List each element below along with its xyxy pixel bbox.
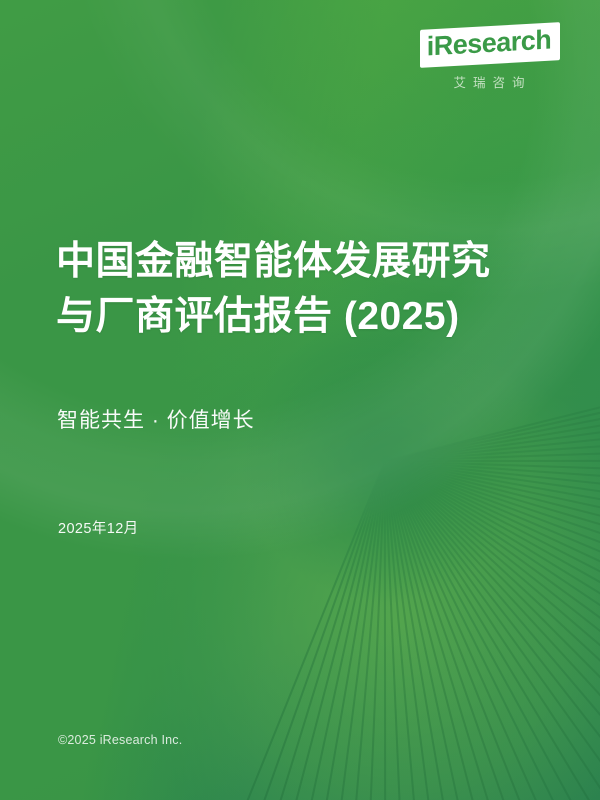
logo-text: iResearch — [414, 18, 564, 70]
cover-content: iResearch 艾瑞咨询 中国金融智能体发展研究 与厂商评估报告 (2025… — [0, 0, 600, 800]
report-cover-page: iResearch 艾瑞咨询 中国金融智能体发展研究 与厂商评估报告 (2025… — [0, 0, 600, 800]
iresearch-logo: iResearch 艾瑞咨询 — [414, 22, 564, 91]
logo-wordmark-text: Research — [434, 25, 552, 62]
publication-date: 2025年12月 — [58, 517, 139, 538]
page-subtitle: 智能共生 · 价值增长 — [57, 404, 255, 434]
logo-wordmark: iResearch — [414, 22, 564, 66]
copyright-notice: ©2025 iResearch Inc. — [58, 733, 182, 747]
page-title: 中国金融智能体发展研究 与厂商评估报告 (2025) — [56, 234, 556, 345]
logo-chinese-name: 艾瑞咨询 — [414, 72, 564, 91]
page-title-line-1: 中国金融智能体发展研究 — [56, 234, 556, 289]
page-title-line-2: 与厂商评估报告 (2025) — [56, 289, 556, 344]
logo-initial: i — [427, 31, 434, 61]
